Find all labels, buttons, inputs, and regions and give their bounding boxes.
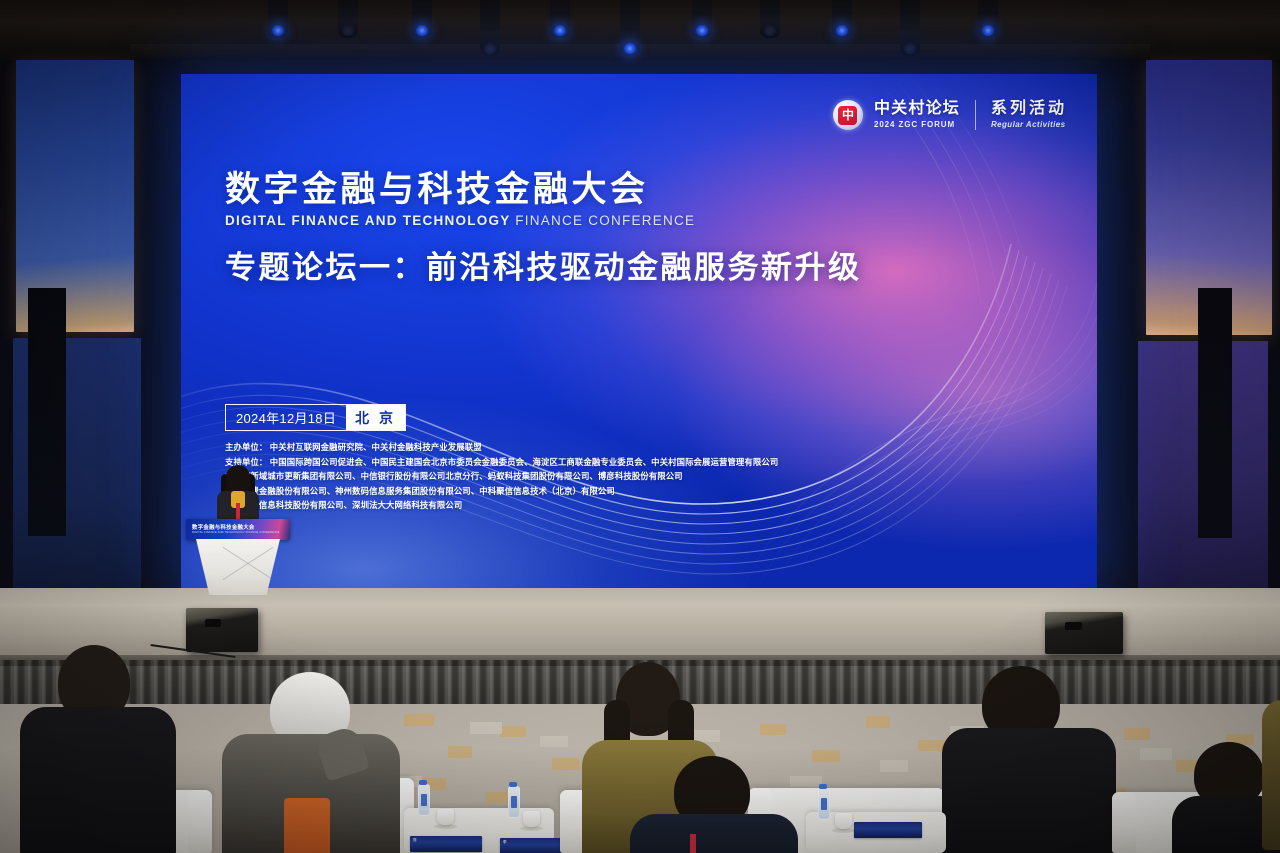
coffee-cup [523,811,540,827]
sponsor-line: 北京海新域城市更新集团有限公司、中信银行股份有限公司北京分行、蚂蚁科技集团股份有… [225,469,1067,484]
zgc-org-cn: 中关村论坛 [874,101,960,118]
side-door-left [28,288,66,536]
stage-light-icon [338,0,358,38]
stage-light-icon [760,0,780,38]
bottle-cap [419,780,427,785]
audience-person [942,666,1122,853]
person-body [942,728,1116,853]
podium-and-speaker: 数字金融与科技金融大会 DIGITAL FINANCE AND TECHNOLO… [186,465,290,595]
sponsor-line: 主办单位： 中关村互联网金融研究院、中关村金融科技产业发展联盟 [225,440,1067,455]
conference-title-cn: 数字金融与科技金融大会 [225,170,1057,209]
zgc-logo-text: 中关村论坛 2024 ZGC FORUM [874,101,960,129]
zgc-org-en: 2024 ZGC FORUM [874,120,960,129]
sponsor-line: 上海合合信息科技股份有限公司、深圳法大大网络科技有限公司 [225,498,1067,513]
name-card-text [854,822,922,824]
speaker-person [212,465,264,527]
person-scarf [284,798,330,853]
stage-monitor-speaker [1045,612,1123,654]
person-body [630,814,798,853]
name-card: 刘 [410,836,482,852]
title-en-light: FINANCE CONFERENCE [515,213,695,228]
stage-light-icon [620,0,640,56]
stage-light-icon [550,0,570,38]
audience-person [1262,700,1280,853]
coffee-cup [437,809,454,825]
water-bottle [508,786,520,818]
stage-light-icon [412,0,432,38]
series-text: 系列活动 Regular Activities [991,101,1067,129]
logo-divider [975,100,976,130]
podium-banner: 数字金融与科技金融大会 DIGITAL FINANCE AND TECHNOLO… [186,519,290,540]
date-location-badge: 2024年12月18日 北 京 [225,404,406,431]
stage-light-icon [900,0,920,56]
wall-right [1098,60,1280,660]
audience-person [630,756,800,853]
bottle-cap [509,782,517,787]
led-screen: 中 中关村论坛 2024 ZGC FORUM 系列活动 Regular Acti… [181,74,1097,590]
name-card [854,822,922,838]
sofa-arm [188,790,212,853]
event-date: 2024年12月18日 [226,405,346,430]
audience-person [222,672,407,853]
series-en: Regular Activities [991,120,1067,129]
podium-base [196,539,280,595]
stage-light-icon [978,0,998,38]
ceiling [0,0,1280,78]
person-body [1262,700,1280,850]
podium-banner-subtitle: DIGITAL FINANCE AND TECHNOLOGY FINANCE C… [192,531,280,534]
audience-person [20,645,180,853]
zgc-forum-logo: 中 中关村论坛 2024 ZGC FORUM 系列活动 Regular Acti… [833,100,1067,130]
bottle-cap [819,784,827,789]
speaker-grille [205,619,221,628]
speaker-grille [1065,622,1082,630]
stage-monitor-speaker [186,608,258,652]
person-body [20,707,176,853]
series-cn: 系列活动 [991,101,1067,118]
person-lanyard [690,834,696,853]
forum-subtitle-cn: 专题论坛一：前沿科技驱动金融服务新升级 [225,242,1057,287]
stage-light-icon [832,0,852,38]
stage-light-icon [268,0,288,38]
event-city: 北 京 [346,405,405,430]
name-card-text: 刘 [410,836,482,843]
podium-banner-title: 数字金融与科技金融大会 [192,523,255,531]
conference-title-en: DIGITAL FINANCE AND TECHNOLOGY FINANCE C… [225,213,1057,228]
slide-title-block: 数字金融与科技金融大会 DIGITAL FINANCE AND TECHNOLO… [225,170,1057,287]
sponsor-line: 支持单位： 中国国际跨国公司促进会、中国民主建国会北京市委员会金融委员会、海淀区… [225,455,1067,470]
title-en-bold: DIGITAL FINANCE AND TECHNOLOGY [225,213,515,228]
ceiling-beam [130,44,1150,60]
side-door-right [1198,288,1232,538]
zgc-mark-glyph: 中 [838,106,857,125]
stage-light-icon [480,0,500,56]
sofa-arm [1112,792,1136,853]
conference-stage-photo: 中 中关村论坛 2024 ZGC FORUM 系列活动 Regular Acti… [0,0,1280,853]
stage-light-icon [692,0,712,38]
podium: 数字金融与科技金融大会 DIGITAL FINANCE AND TECHNOLO… [186,519,290,595]
sponsor-block: 主办单位： 中关村互联网金融研究院、中关村金融科技产业发展联盟 支持单位： 中国… [225,440,1067,513]
water-bottle [418,784,430,816]
sponsor-line: 马上消费金融股份有限公司、神州数码信息服务集团股份有限公司、中科聚信信息技术（北… [225,484,1067,499]
coffee-cup [835,813,852,829]
water-bottle [818,788,830,820]
zgc-mark-icon: 中 [833,100,863,130]
